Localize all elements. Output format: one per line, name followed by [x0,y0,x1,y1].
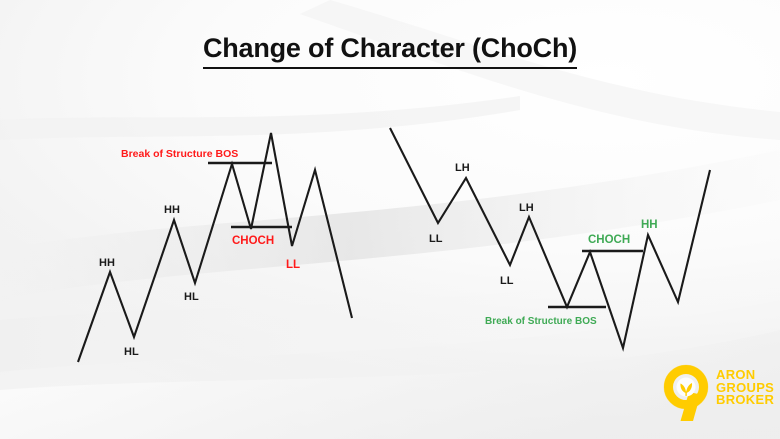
right-chart: LH LL LH LL Break of Structure BOS CHOCH… [390,128,710,348]
label-hl-1: HL [124,346,139,358]
label-lh-2: LH [519,202,534,214]
logo-line-3: BROKER [716,394,774,407]
label-ll-1: LL [429,233,443,245]
label-hl-2: HL [184,291,199,303]
nine-with-leaf-icon [660,364,716,424]
label-lh-1: LH [455,162,470,174]
label-hh-right: HH [641,219,658,231]
left-chart: HH HL HH HL Break of Structure BOS CHOCH… [78,133,352,362]
label-hh-2: HH [164,204,180,216]
label-break-of-structure-bos-left: Break of Structure BOS [121,148,238,160]
label-break-of-structure-bos-right: Break of Structure BOS [485,316,597,327]
label-choch-right: CHOCH [588,234,630,246]
label-ll-2: LL [500,275,514,287]
label-hh-1: HH [99,257,115,269]
slide-canvas: Change of Character (ChoCh) HH HL HH HL … [0,0,780,439]
label-ll-left: LL [286,259,300,271]
label-choch-left: CHOCH [232,235,274,247]
aron-groups-broker-logo: ARON GROUPS BROKER [660,364,778,426]
left-chart-price-line [78,133,352,362]
logo-wordmark: ARON GROUPS BROKER [716,369,774,407]
